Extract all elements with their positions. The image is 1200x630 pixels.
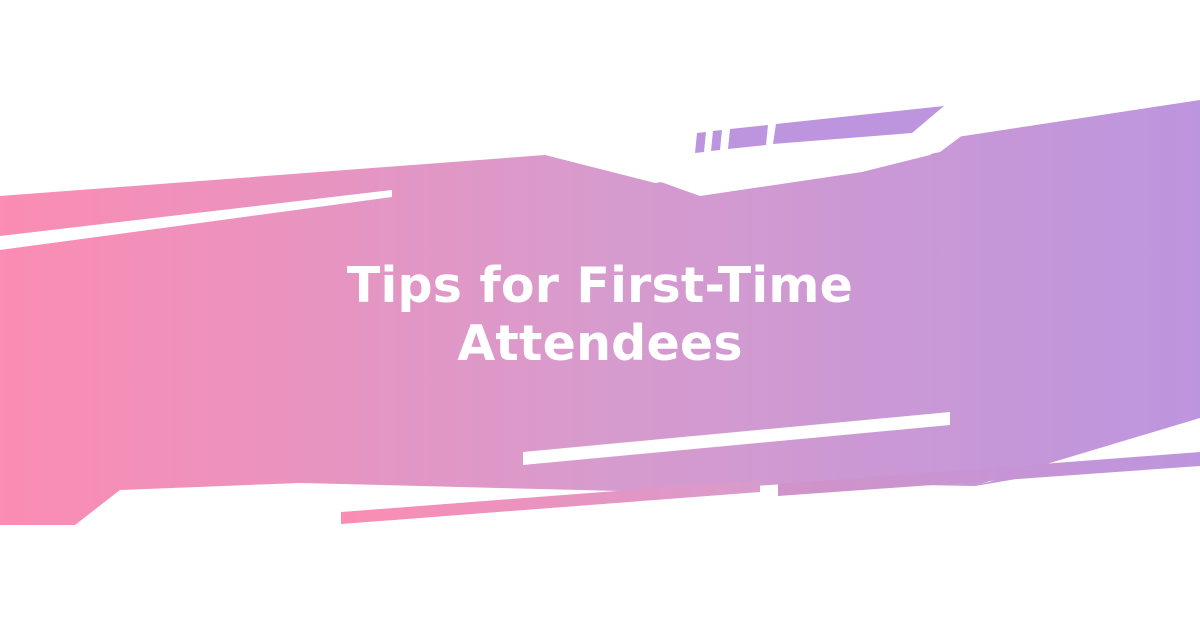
main-gradient-shape	[0, 100, 1200, 525]
banner-card: Tips for First-Time Attendees	[0, 0, 1200, 630]
decorative-background-art	[0, 0, 1200, 630]
